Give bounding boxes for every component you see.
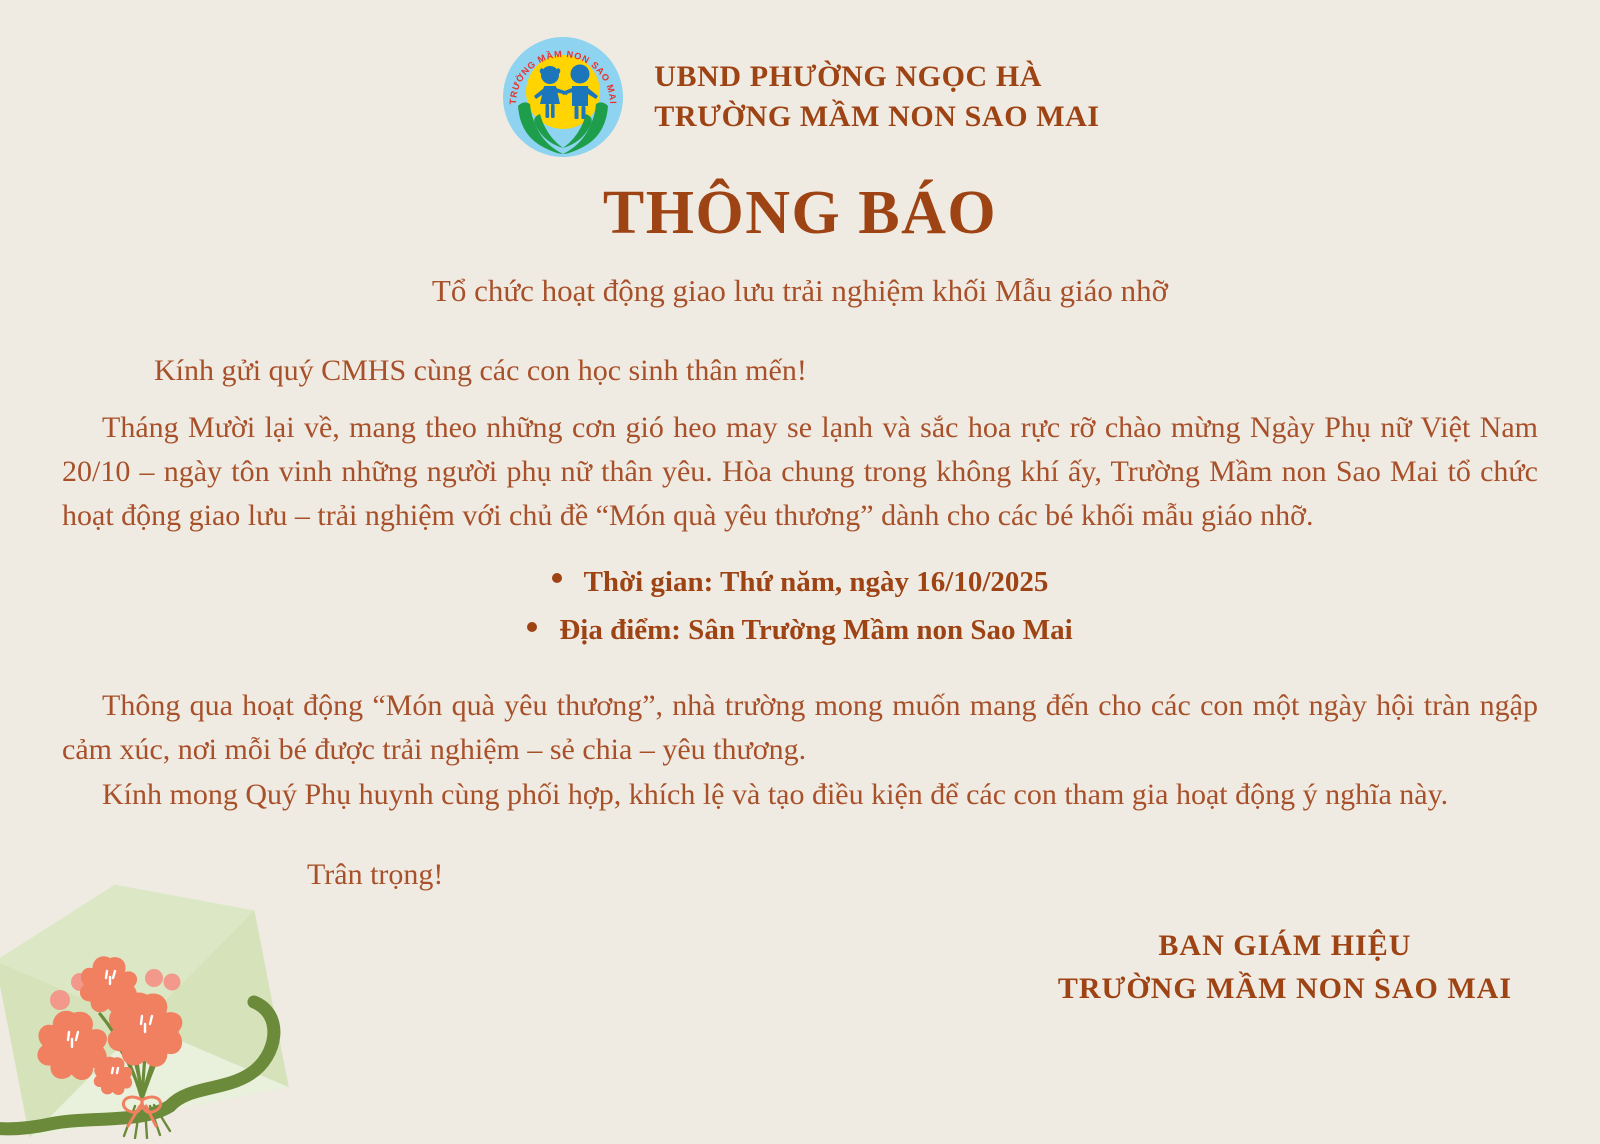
paragraph-request: Kính mong Quý Phụ huynh cùng phối hợp, k… <box>62 773 1538 817</box>
event-location-text: Địa điểm: Sân Trường Mầm non Sao Mai <box>559 614 1072 646</box>
org-line-ubnd: UBND PHƯỜNG NGỌC HÀ <box>654 57 1099 97</box>
page-subtitle: Tổ chức hoạt động giao lưu trải nghiệm k… <box>0 272 1600 309</box>
page-title: THÔNG BÁO <box>0 182 1600 244</box>
list-item-time: Thời gian: Thứ năm, ngày 16/10/2025 <box>62 557 1538 606</box>
school-logo-icon: TRƯỜNG MẦM NON SAO MAI <box>500 34 626 160</box>
bullet-dot-icon <box>552 573 562 583</box>
greeting-line: Kính gửi quý CMHS cùng các con học sinh … <box>62 349 1538 393</box>
list-item-location: Địa điểm: Sân Trường Mầm non Sao Mai <box>62 605 1538 654</box>
announcement-body: Kính gửi quý CMHS cùng các con học sinh … <box>0 349 1600 897</box>
paragraph-intro: Tháng Mười lại về, mang theo những cơn g… <box>62 406 1538 539</box>
regards-line: Trân trọng! <box>62 853 1538 897</box>
paragraph-purpose: Thông qua hoạt động “Món quà yêu thương”… <box>62 684 1538 773</box>
signature-block: BAN GIÁM HIỆU TRƯỜNG MẦM NON SAO MAI <box>1058 925 1512 1010</box>
organization-names: UBND PHƯỜNG NGỌC HÀ TRƯỜNG MẦM NON SAO M… <box>654 57 1099 136</box>
announcement-poster: TRƯỜNG MẦM NON SAO MAI UBND PHƯỜNG NGỌC … <box>0 0 1600 1135</box>
event-details-list: Thời gian: Thứ năm, ngày 16/10/2025 Địa … <box>62 557 1538 654</box>
envelope-with-flowers-illustration <box>0 874 292 1139</box>
poster-header: TRƯỜNG MẦM NON SAO MAI UBND PHƯỜNG NGỌC … <box>0 0 1600 160</box>
bullet-dot-icon <box>527 622 537 632</box>
signature-board: BAN GIÁM HIỆU <box>1058 925 1512 968</box>
org-line-school: TRƯỜNG MẦM NON SAO MAI <box>654 97 1099 137</box>
signature-school: TRƯỜNG MẦM NON SAO MAI <box>1058 968 1512 1011</box>
event-time-text: Thời gian: Thứ năm, ngày 16/10/2025 <box>584 566 1049 598</box>
